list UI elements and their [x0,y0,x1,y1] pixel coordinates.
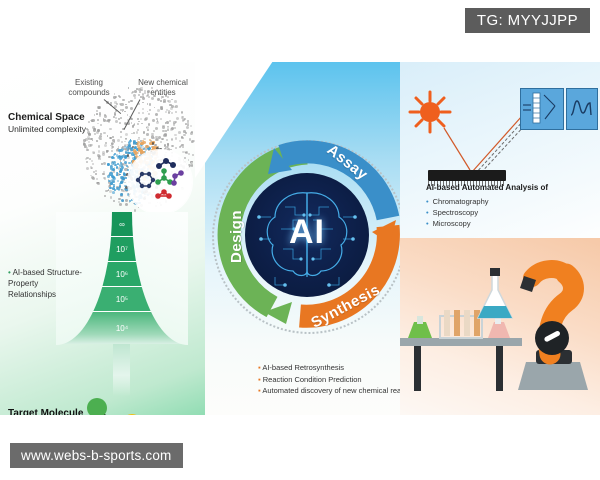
bullet-marker: ▪ [258,363,261,372]
scatter-point [124,146,126,148]
scatter-point [128,87,129,88]
scatter-point [162,126,165,129]
analysis-heading: AI-based Automated Analysis of [426,182,596,194]
scatter-point [122,99,124,101]
scatter-point [142,102,144,104]
scatter-point [98,107,100,109]
scatter-point [145,145,148,148]
robot-arm-fore [532,269,566,278]
scatter-point [153,130,155,132]
scatter-point [136,131,138,133]
list-item: Spectroscopy [426,207,596,218]
callout-new-chemical-entities: New chemical entities [135,78,191,98]
ai-core-label: AI [245,213,369,252]
scatter-point [113,200,115,202]
flask-pink [488,322,510,338]
screenshot-root: Existing compounds New chemical entities… [0,0,600,480]
scatter-point [166,139,168,141]
scatter-point [190,132,193,135]
scatter-point [114,189,116,191]
list-item: Chromatography [426,196,596,207]
scatter-point [179,140,181,142]
arc-label-design: Design [228,210,245,263]
scatter-point [147,129,149,131]
scatter-point [112,191,115,194]
scatter-point [137,144,140,147]
bench-leg [414,346,421,391]
scatter-point [152,119,155,122]
scatter-point [174,100,177,103]
scatter-point [174,127,176,129]
scatter-point [103,162,106,165]
scatter-point [124,182,126,184]
scatter-point [143,131,145,133]
scatter-point [125,177,127,179]
scatter-point [85,138,88,141]
scatter-point [140,118,142,120]
scatter-point [99,138,101,140]
scatter-point [155,127,158,130]
scatter-point [191,140,194,143]
scatter-point [124,141,125,142]
scatter-point [103,132,105,134]
scatter-point [109,128,111,130]
scatter-point [117,180,119,182]
scatter-point [121,141,123,143]
scatter-point [112,146,114,148]
scatter-point [174,134,177,137]
scatter-point [148,123,150,125]
callout-existing-compounds: Existing compounds [60,78,118,98]
bullet-marker: ▪ [258,375,261,384]
scatter-point [160,100,162,102]
scatter-point [168,100,171,103]
scatter-point [92,163,94,165]
scatter-point [183,134,186,137]
sample-plate [428,170,506,181]
bullet-text: AI-based Retrosynthesis [262,363,344,372]
panel-robotic-lab [400,238,600,415]
scatter-point [111,169,113,171]
scatter-point [186,126,189,129]
scatter-point [175,137,177,139]
scatter-point [192,154,194,156]
scatter-point [113,116,115,118]
scatter-point [96,178,98,180]
scatter-point [175,147,177,149]
scatter-point [138,103,140,105]
scatter-point [168,112,170,114]
left-bullet-text: AI-based Structure-Property Relationship… [8,268,82,299]
scatter-point [120,193,123,196]
scatter-point [102,173,105,176]
scatter-point [133,132,135,134]
scatter-point [84,145,87,148]
scatter-point [86,149,89,152]
magnifier-lens [128,150,192,214]
scatter-point [174,106,176,108]
scatter-point [161,138,164,141]
scatter-point [167,129,169,131]
scatter-point [91,160,92,161]
scatter-point [121,148,124,151]
scatter-point [119,203,122,206]
scatter-point [161,108,163,110]
tg-watermark-badge: TG: MYYJJPP [465,8,590,33]
robotic-arm-lab-illustration [400,238,600,415]
scatter-point [117,187,120,190]
left-bullet-list: • AI-based Structure-Property Relationsh… [8,267,88,300]
scatter-point [121,199,124,202]
scatter-point [163,101,165,103]
scatter-point [107,175,110,178]
scatter-point [142,112,144,114]
scatter-point [153,137,155,139]
scatter-point [173,121,176,124]
scatter-point [122,111,124,113]
scatter-point [181,111,183,113]
scatter-point [112,136,114,138]
analysis-bullet-list: Chromatography Spectroscopy Microscopy [426,196,596,229]
scatter-point [155,113,158,116]
panel-automated-analysis: AI-based Automated Analysis of Chromatog… [400,62,600,238]
scatter-point [119,152,121,154]
scatter-point [141,123,143,125]
scatter-point [147,111,148,112]
scientific-figure: Existing compounds New chemical entities… [0,62,600,415]
scatter-point [152,142,155,145]
scatter-point [88,144,91,147]
scatter-point [183,130,186,133]
scatter-point [86,167,89,170]
scatter-point [111,150,113,152]
scatter-point [125,133,128,136]
scatter-point [149,109,151,111]
scatter-point [151,133,153,135]
scatter-point [103,171,105,173]
scatter-point [102,153,105,156]
scatter-point [137,118,139,120]
scatter-point [113,184,115,186]
chemical-space-title-block: Chemical Space Unlimited complexity [8,112,103,135]
scatter-point [171,99,172,100]
chemical-space-title: Chemical Space [8,112,103,124]
bullet-text: Automated discovery of new chemical reac… [262,386,420,395]
bullet-text: Reaction Condition Prediction [263,375,362,384]
scatter-point [115,120,118,123]
scatter-point [120,117,122,119]
scatter-point [98,150,100,152]
scatter-point [117,163,119,165]
scatter-point [98,158,100,160]
bullet-marker: ▪ [258,386,261,395]
target-molecule-icon [80,394,150,415]
scatter-point [170,107,173,110]
scatter-point [104,177,107,180]
scatter-point [112,139,114,141]
scatter-point [137,123,139,125]
scatter-point [103,119,106,122]
molecule-cluster-icon [128,150,192,214]
funnel-stem [113,344,130,396]
scatter-point [119,170,122,173]
scatter-point [127,114,129,116]
scatter-point [181,144,184,147]
panel-chemical-space: Existing compounds New chemical entities… [0,62,212,415]
scatter-point [92,151,95,154]
scatter-point [96,140,98,142]
scatter-point [157,120,159,122]
scatter-point [112,176,115,179]
scatter-point [160,141,162,143]
scatter-point [111,156,114,159]
scatter-point [111,179,114,182]
scatter-point [171,112,174,115]
scatter-point [171,145,172,146]
flask-green [408,322,432,338]
scatter-point [138,112,140,114]
scatter-point [144,118,147,121]
analysis-text-block: AI-based Automated Analysis of Chromatog… [426,182,596,229]
scatter-point [119,122,121,124]
scatter-point [104,144,107,147]
chemical-space-subtitle: Unlimited complexity [8,124,103,135]
scatter-point [175,111,178,114]
scatter-point [160,118,162,120]
site-watermark-badge: www.webs-b-sports.com [10,443,183,468]
bench-leg [496,346,503,391]
scatter-point [119,96,121,98]
scatter-point [160,106,162,108]
scatter-point [106,150,109,153]
scatter-point [171,139,173,141]
scatter-point [171,127,174,130]
scatter-point [154,107,156,109]
scatter-point [125,104,126,105]
scatter-point [120,131,122,133]
ai-core-circle: AI [245,173,369,297]
scatter-point [88,141,90,143]
scatter-point [138,121,139,122]
scatter-point [90,138,92,140]
test-tubes [444,310,480,336]
scatter-point [142,108,144,110]
scatter-point [146,133,149,136]
robot-base [518,362,588,390]
scatter-point [147,103,149,105]
scatter-point [95,173,98,176]
scatter-point [124,111,126,113]
scatter-point [140,142,143,145]
scatter-point [117,139,120,142]
scatter-point [134,147,136,149]
scatter-point [120,136,122,138]
scatter-point [98,145,101,148]
list-item: Microscopy [426,218,596,229]
scatter-point [106,120,108,122]
scatter-point [182,146,184,148]
scatter-point [178,131,181,134]
scatter-point [92,140,93,141]
scatter-point [169,104,172,107]
scatter-point [86,161,88,163]
spectroscopy-instrument-icon [566,88,598,130]
bullet-marker: • [8,268,11,277]
scatter-point [187,120,189,122]
scatter-point [109,187,111,189]
scatter-point [164,133,167,136]
scatter-point [91,176,94,179]
bench-top [400,338,522,346]
scatter-point [115,117,117,119]
scatter-point [165,122,166,123]
scatter-point [190,125,192,127]
scatter-point [169,120,171,122]
scatter-point [162,130,164,132]
scatter-point [95,170,97,172]
scatter-point [104,195,106,197]
scatter-point [111,143,113,145]
scatter-point [114,114,116,116]
scatter-point [181,137,184,140]
scatter-point [149,103,151,105]
scatter-point [148,113,150,115]
scatter-point [130,100,132,102]
chromatography-instrument-icon [520,88,564,130]
scatter-point [166,121,169,124]
scatter-point [110,196,113,199]
ai-design-cycle: AI Design Assay Synthesis [212,140,402,330]
scatter-point [134,123,136,125]
scatter-point [176,117,179,120]
scatter-point [125,106,128,109]
